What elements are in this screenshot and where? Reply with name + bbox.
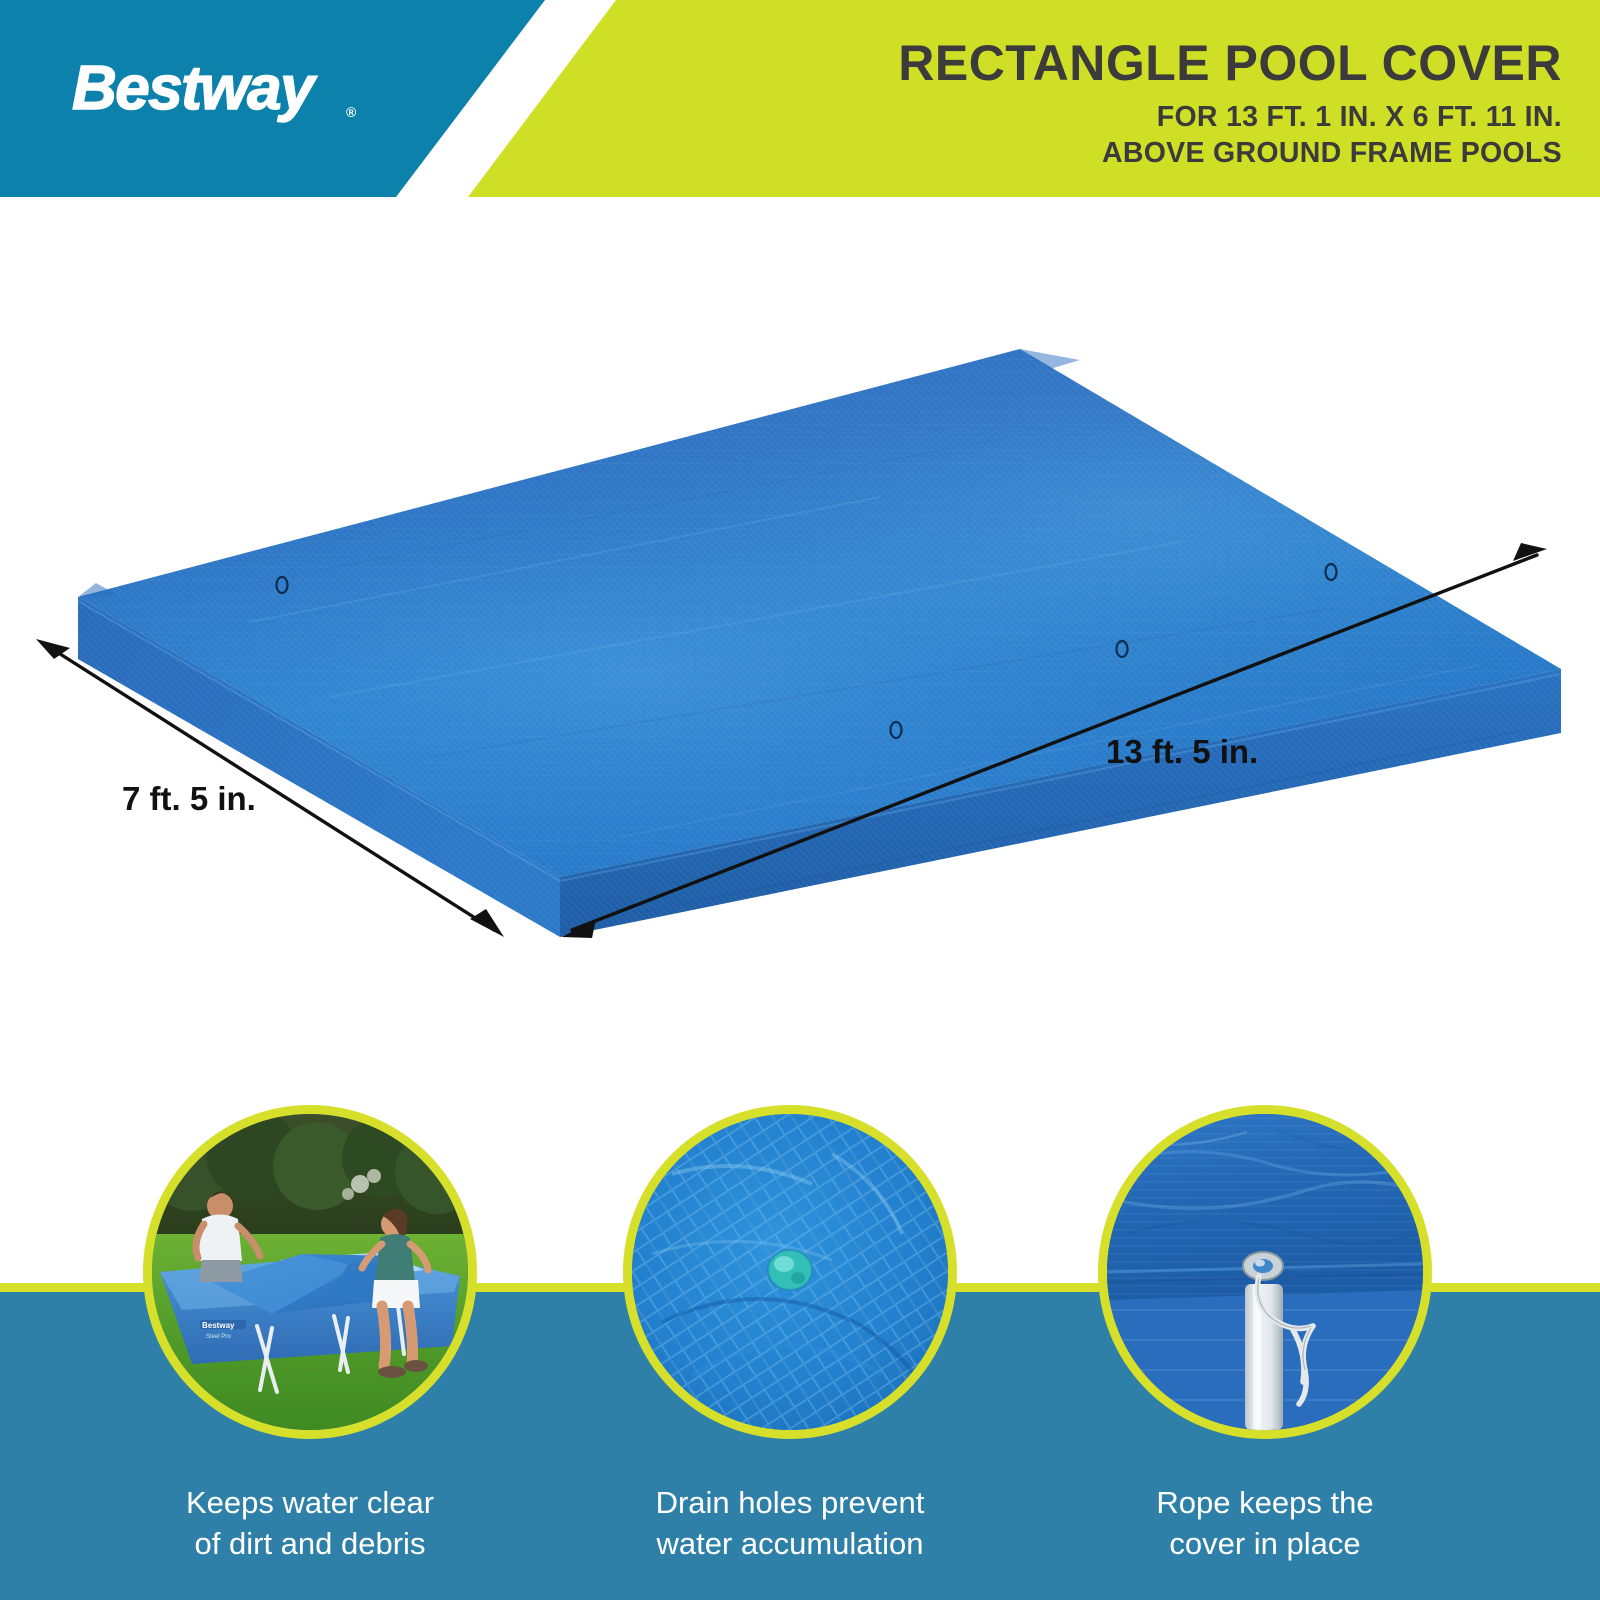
caption-line-1: Rope keeps the — [1085, 1482, 1445, 1523]
feature-highlights: Bestway Steel Pro — [0, 1062, 1600, 1600]
feature-photo-frame — [623, 1105, 957, 1439]
arrow-head-downmid-left — [470, 909, 504, 937]
width-dimension-label: 7 ft. 5 in. — [122, 780, 256, 818]
pool-cover-3d-drawing — [0, 197, 1600, 1062]
subtitle-line-2: ABOVE GROUND FRAME POOLS — [898, 135, 1562, 171]
brand-logo: Bestway — [72, 58, 313, 120]
people-covering-pool-photo: Bestway Steel Pro — [152, 1114, 468, 1430]
hero-product-illustration: 7 ft. 5 in. 13 ft. 5 in. — [0, 197, 1600, 1062]
feature-photo-frame — [1098, 1105, 1432, 1439]
caption-line-2: water accumulation — [610, 1523, 970, 1564]
drain-hole-closeup-photo — [632, 1114, 948, 1430]
page-title: RECTANGLE POOL COVER — [898, 38, 1562, 88]
pool-model-label: Steel Pro — [206, 1334, 231, 1340]
caption-line-2: cover in place — [1085, 1523, 1445, 1564]
page-subtitle: FOR 13 FT. 1 IN. X 6 FT. 11 IN. ABOVE GR… — [898, 99, 1562, 172]
registered-trademark-icon: ® — [346, 104, 356, 120]
subtitle-line-1: FOR 13 FT. 1 IN. X 6 FT. 11 IN. — [898, 99, 1562, 135]
feature-caption: Rope keeps the cover in place — [1085, 1482, 1445, 1564]
caption-line-1: Drain holes prevent — [610, 1482, 970, 1523]
caption-line-1: Keeps water clear — [130, 1482, 490, 1523]
feature-photo-frame: Bestway Steel Pro — [143, 1105, 477, 1439]
header-title-block: RECTANGLE POOL COVER FOR 13 FT. 1 IN. X … — [898, 38, 1562, 172]
rope-grommet-icon — [1243, 1252, 1283, 1280]
length-dimension-label: 13 ft. 5 in. — [1106, 733, 1258, 771]
feature-caption: Keeps water clear of dirt and debris — [130, 1482, 490, 1564]
feature-caption: Drain holes prevent water accumulation — [610, 1482, 970, 1564]
pool-brand-label: Bestway — [202, 1321, 235, 1330]
cover-top-face — [78, 349, 1561, 877]
page-header: Bestway ® RECTANGLE POOL COVER FOR 13 FT… — [0, 0, 1600, 197]
drain-hole-icon — [768, 1250, 812, 1290]
rope-grommet-closeup-photo — [1107, 1114, 1423, 1430]
caption-line-2: of dirt and debris — [130, 1523, 490, 1564]
